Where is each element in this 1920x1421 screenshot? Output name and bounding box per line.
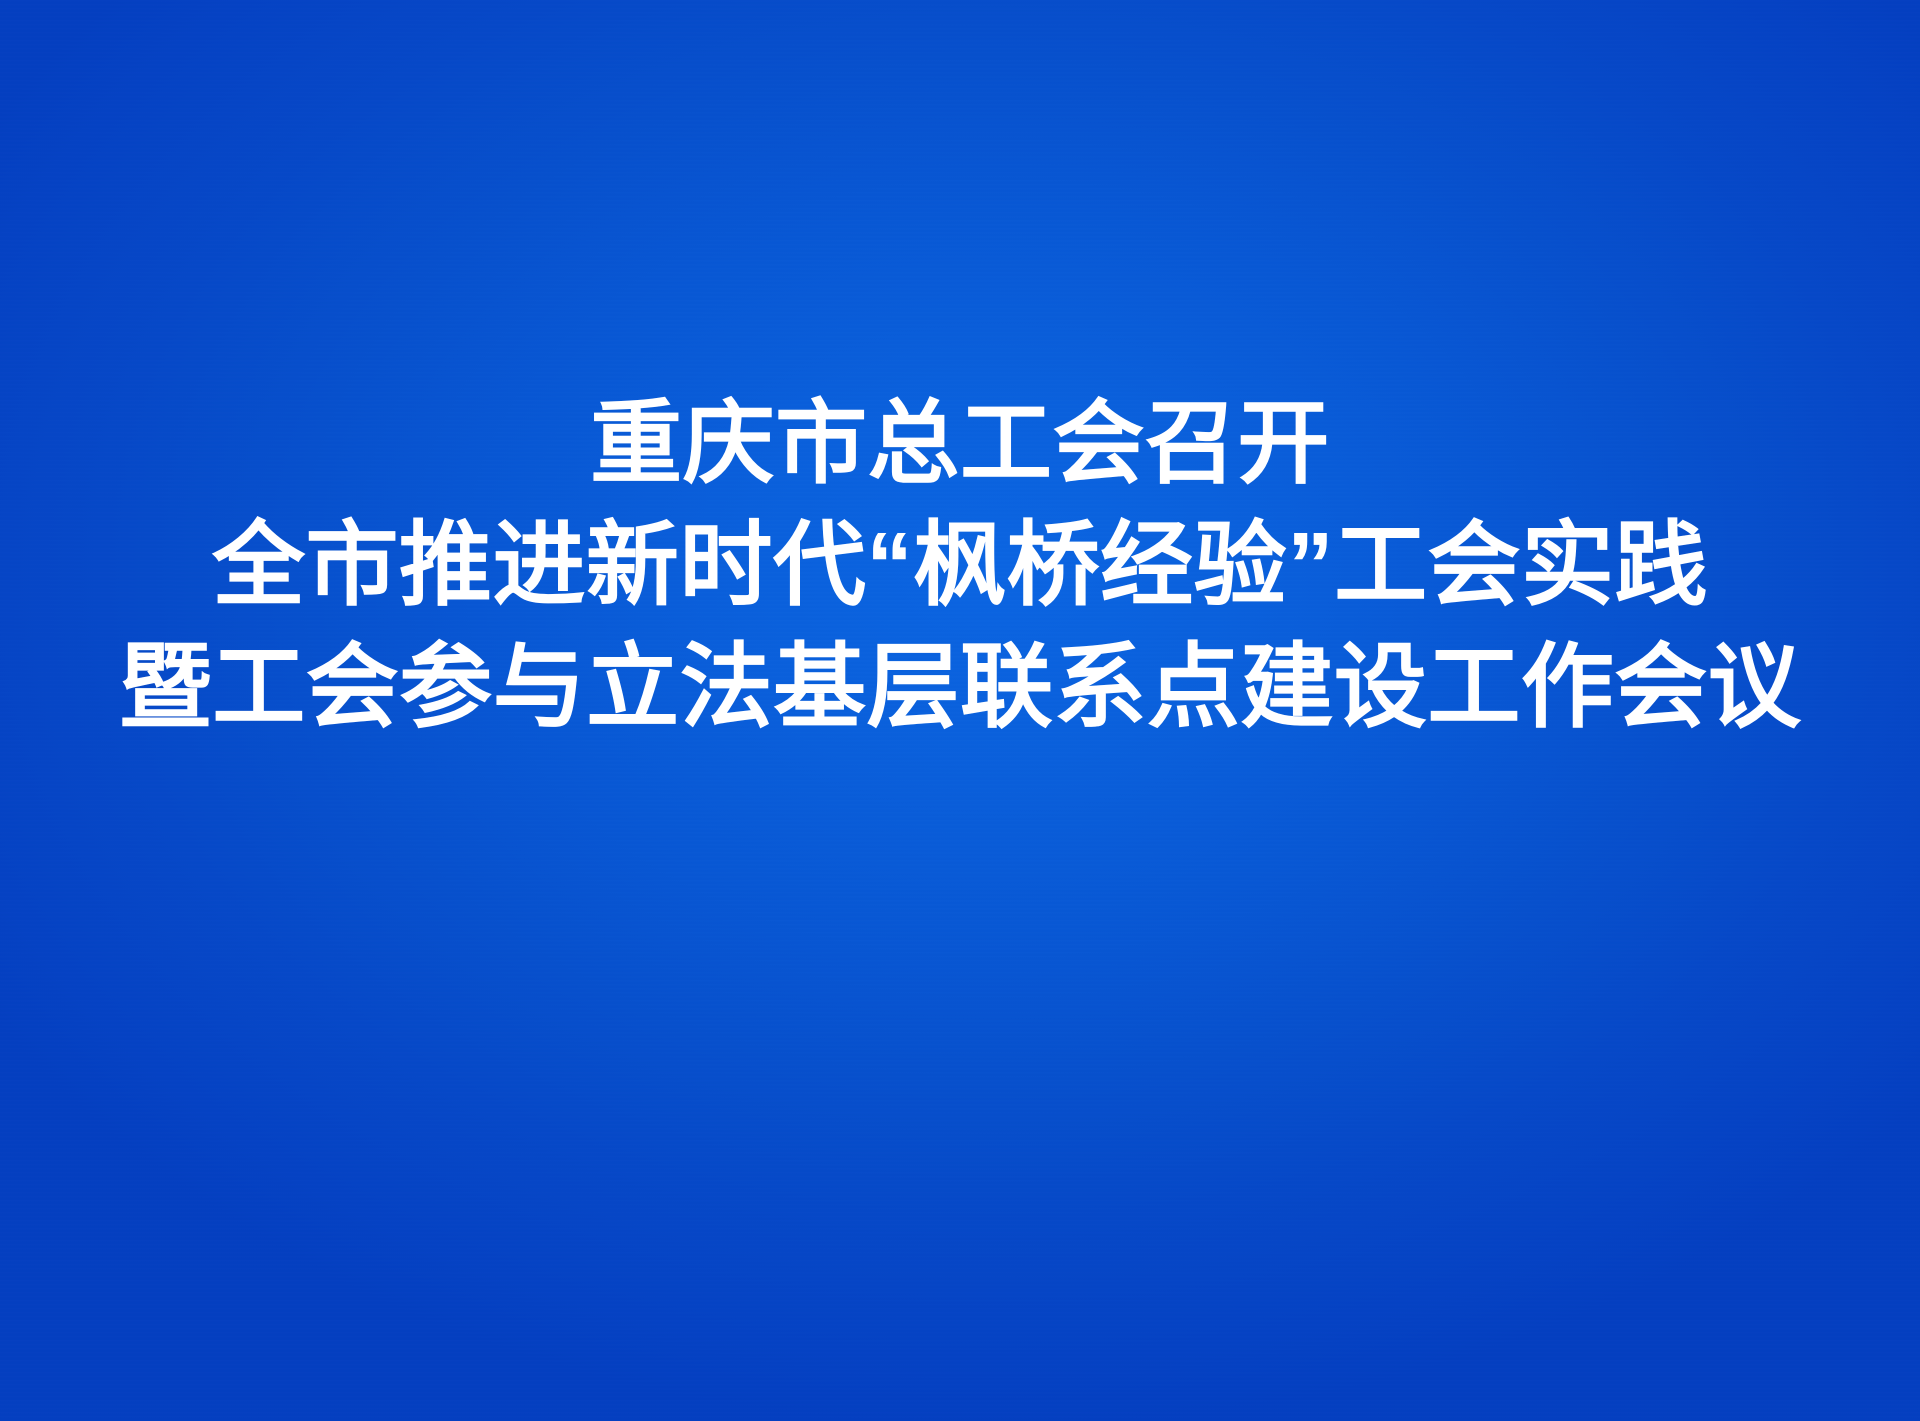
slide-canvas: 重庆市总工会召开 全市推进新时代“枫桥经验”工会实践 暨工会参与立法基层联系点建… xyxy=(0,0,1920,1421)
title-line-2: 全市推进新时代“枫桥经验”工会实践 xyxy=(212,519,1708,612)
slide-title-block: 重庆市总工会召开 全市推进新时代“枫桥经验”工会实践 暨工会参与立法基层联系点建… xyxy=(0,398,1920,734)
title-line-3: 暨工会参与立法基层联系点建设工作会议 xyxy=(119,641,1801,734)
title-line-1: 重庆市总工会召开 xyxy=(590,398,1330,490)
